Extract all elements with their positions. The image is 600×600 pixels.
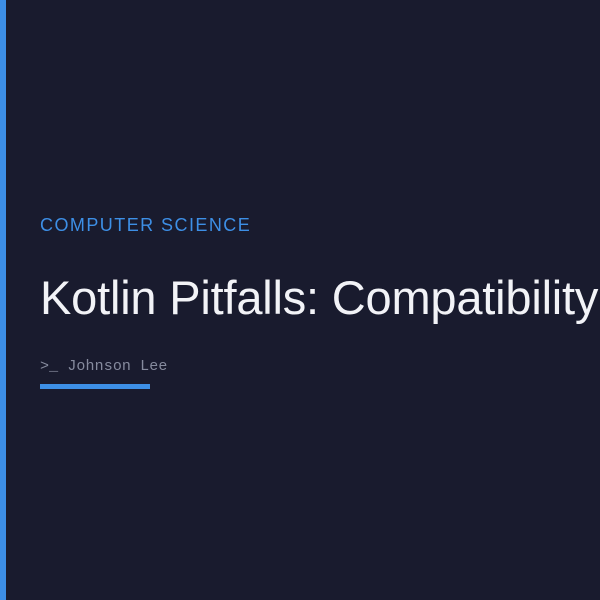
page-title: Kotlin Pitfalls: Compatibility <box>40 271 598 325</box>
left-edge-accent-bar <box>0 0 6 600</box>
title-slide: COMPUTER SCIENCE Kotlin Pitfalls: Compat… <box>0 0 600 600</box>
byline: >_ Johnson Lee <box>40 357 167 377</box>
author-name: Johnson Lee <box>67 358 167 375</box>
byline-underline-accent <box>40 384 150 389</box>
terminal-prompt-icon: >_ <box>40 358 58 375</box>
title-card-content: COMPUTER SCIENCE Kotlin Pitfalls: Compat… <box>40 214 580 236</box>
category-label: COMPUTER SCIENCE <box>40 214 580 236</box>
